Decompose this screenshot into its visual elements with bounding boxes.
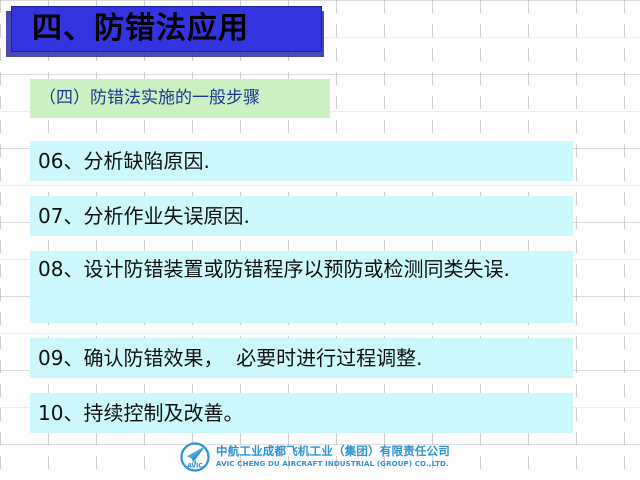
step-row: 09、确认防错效果， 必要时进行过程调整. bbox=[30, 338, 573, 378]
avic-aircraft-logo-icon: AVIC bbox=[180, 442, 210, 472]
section-subtitle-box: （四）防错法实施的一般步骤 bbox=[30, 79, 330, 118]
step-row: 10、持续控制及改善。 bbox=[30, 393, 573, 433]
step-text: 10、持续控制及改善。 bbox=[38, 400, 243, 427]
svg-text:AVIC: AVIC bbox=[187, 462, 203, 469]
title-banner: 四、防错法应用 bbox=[11, 6, 322, 52]
step-text: 08、设计防错装置或防错程序以预防或检测同类失误. bbox=[38, 256, 510, 283]
section-subtitle-label: （四）防错法实施的一般步骤 bbox=[39, 89, 260, 108]
step-text: 07、分析作业失误原因. bbox=[38, 203, 250, 230]
company-name-en: AVIC CHENG DU AIRCRAFT INDUSTRIAL (GROUP… bbox=[216, 461, 450, 468]
company-name-cn: 中航工业成都飞机工业（集团）有限责任公司 bbox=[216, 446, 450, 458]
step-text: 06、分析缺陷原因. bbox=[38, 148, 210, 175]
footer-company-text: 中航工业成都飞机工业（集团）有限责任公司 AVIC CHENG DU AIRCR… bbox=[216, 446, 450, 468]
step-row: 07、分析作业失误原因. bbox=[30, 196, 573, 236]
step-row: 08、设计防错装置或防错程序以预防或检测同类失误. bbox=[30, 251, 573, 323]
page-title: 四、防错法应用 bbox=[32, 14, 249, 44]
step-row: 06、分析缺陷原因. bbox=[30, 141, 573, 181]
presentation-slide: 四、防错法应用 （四）防错法实施的一般步骤 06、分析缺陷原因. 07、分析作业… bbox=[0, 0, 640, 480]
footer-branding: AVIC 中航工业成都飞机工业（集团）有限责任公司 AVIC CHENG DU … bbox=[180, 440, 480, 474]
step-text: 09、确认防错效果， 必要时进行过程调整. bbox=[38, 345, 423, 372]
